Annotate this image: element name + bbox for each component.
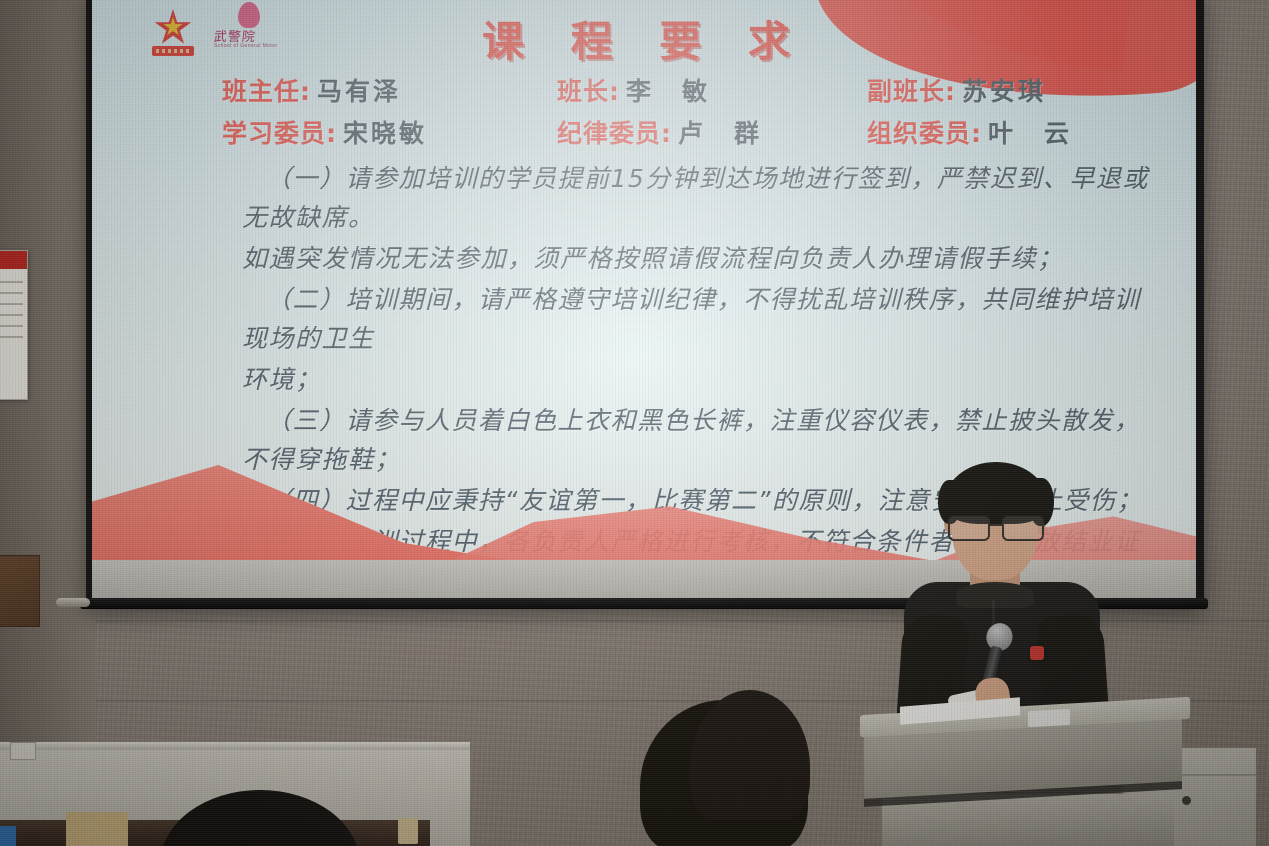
lectern-podium <box>860 706 1240 846</box>
glasses-icon <box>948 516 1044 538</box>
left-wall-corner <box>0 0 96 846</box>
foreground-box <box>66 812 128 846</box>
officer-role: 班长: <box>557 72 620 108</box>
officer-role: 副班长: <box>867 72 956 108</box>
officer-organization-committee: 组织委员: 叶 云 <box>867 114 1072 150</box>
rule-item-2: （二）培训期间，请严格遵守培训纪律，不得扰乱培训秩序，共同维护培训现场的卫生 <box>242 280 1156 358</box>
rule-item-1: （一）请参加培训的学员提前15分钟到达场地进行签到，严禁迟到、早退或无故缺席。 <box>242 159 1156 237</box>
officer-discipline-committee: 纪律委员: 卢 群 <box>557 114 867 150</box>
light-switch-icon <box>10 742 36 760</box>
presenter-collar <box>956 582 1034 608</box>
foreground-blue-object <box>0 826 16 846</box>
screenshot-root: 武警院 School of General Motor 课 程 要 求 班主任:… <box>0 0 1269 846</box>
officer-name: 马有泽 <box>317 72 401 108</box>
officer-name: 宋晓敏 <box>343 114 427 150</box>
officer-role: 学习委员: <box>222 114 337 150</box>
slide-title: 课 程 要 求 <box>92 8 1196 69</box>
small-device-on-podium <box>1028 709 1070 727</box>
officer-name: 叶 云 <box>988 114 1072 150</box>
wall-brown-panel <box>0 555 40 627</box>
wall-rail <box>0 742 470 750</box>
foreground-cup <box>398 818 418 844</box>
officer-deputy-monitor: 副班长: 苏安琪 <box>867 72 1046 108</box>
officer-head-teacher: 班主任: 马有泽 <box>222 72 557 108</box>
officer-name: 卢 群 <box>678 114 762 150</box>
poster-text-lines <box>0 281 23 347</box>
officer-row: 学习委员: 宋晓敏 纪律委员: 卢 群 组织委员: 叶 云 <box>222 114 1136 150</box>
officer-role: 纪律委员: <box>557 114 672 150</box>
officer-class-monitor: 班长: 李 敏 <box>557 72 867 108</box>
lapel-pin-icon <box>1030 646 1044 660</box>
presenter-hair <box>944 462 1048 524</box>
officer-study-committee: 学习委员: 宋晓敏 <box>222 114 557 150</box>
officer-role: 班主任: <box>222 72 311 108</box>
officer-role: 组织委员: <box>867 114 982 150</box>
officer-name: 李 敏 <box>626 72 710 108</box>
class-officers-block: 班主任: 马有泽 班长: 李 敏 副班长: 苏安琪 <box>222 72 1136 156</box>
officer-row: 班主任: 马有泽 班长: 李 敏 副班长: 苏安琪 <box>222 72 1136 108</box>
rule-item-1-cont: 如遇突发情况无法参加，须严格按照请假流程向负责人办理请假手续； <box>242 239 1156 278</box>
rule-item-2-cont: 环境； <box>242 360 1156 399</box>
cabinet-knob-icon <box>1182 796 1191 805</box>
screen-roller-knob <box>56 598 90 607</box>
left-wall-poster <box>0 250 28 400</box>
officer-name: 苏安琪 <box>962 72 1046 108</box>
poster-red-header <box>0 251 27 269</box>
